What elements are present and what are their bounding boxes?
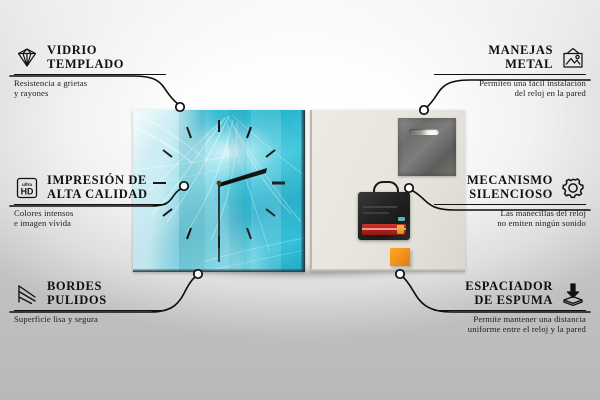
feature-rule xyxy=(434,310,586,311)
feature-rule xyxy=(14,74,166,75)
feature-rule xyxy=(14,204,166,205)
feature-header: ultra HD IMPRESIÓN DE ALTA CALIDAD xyxy=(14,174,166,201)
feature-description: Superficie lisa y segura xyxy=(14,314,166,324)
feature-header: ESPACIADOR DE ESPUMA xyxy=(434,280,586,307)
feature-description: Resistencia a grietas y rayones xyxy=(14,78,166,99)
feature-rule xyxy=(434,74,586,75)
feature-impresion-de-alta-calidad: ultra HD IMPRESIÓN DE ALTA CALIDAD Color… xyxy=(14,174,166,229)
feature-rule xyxy=(14,310,166,311)
feature-manejas-metal: MANEJAS METAL Permiten una fácil instala… xyxy=(434,44,586,99)
feature-title: VIDRIO TEMPLADO xyxy=(47,44,124,71)
ultra-hd-icon: ultra HD xyxy=(14,176,40,200)
dot-impresion xyxy=(180,182,188,190)
gear-icon xyxy=(560,176,586,200)
feature-vidrio-templado: VIDRIO TEMPLADO Resistencia a grietas y … xyxy=(14,44,166,99)
feature-rule xyxy=(434,204,586,205)
feature-title: MANEJAS METAL xyxy=(488,44,553,71)
connector-end-dots xyxy=(176,103,428,278)
feature-bordes-pulidos: BORDES PULIDOS Superficie lisa y segura xyxy=(14,280,166,324)
foam-spacer-arrow-icon xyxy=(560,282,586,306)
dot-bordes-pulidos xyxy=(194,270,202,278)
feature-title: ESPACIADOR DE ESPUMA xyxy=(465,280,553,307)
feature-description: Permite mantener una distancia uniforme … xyxy=(434,314,586,335)
feature-header: BORDES PULIDOS xyxy=(14,280,166,307)
dot-vidrio-templado xyxy=(176,103,184,111)
feature-description: Colores intensos e imagen vívida xyxy=(14,208,166,229)
feature-mecanismo-silencioso: MECANISMO SILENCIOSO Las manecillas del … xyxy=(434,174,586,229)
infographic-stage: VIDRIO TEMPLADO Resistencia a grietas y … xyxy=(0,0,600,400)
feature-header: VIDRIO TEMPLADO xyxy=(14,44,166,71)
feature-espaciador-de-espuma: ESPACIADOR DE ESPUMA Permite mantener un… xyxy=(434,280,586,335)
ultra-hd-icon-large-text: HD xyxy=(21,186,34,196)
feature-title: IMPRESIÓN DE ALTA CALIDAD xyxy=(47,174,148,201)
diamond-icon xyxy=(14,46,40,70)
feature-header: MANEJAS METAL xyxy=(434,44,586,71)
polished-edges-icon xyxy=(14,282,40,306)
feature-title: MECANISMO SILENCIOSO xyxy=(467,174,553,201)
feature-description: Las manecillas del reloj no emiten ningú… xyxy=(434,208,586,229)
feature-description: Permiten una fácil instalación del reloj… xyxy=(434,78,586,99)
wall-hanger-frame-icon xyxy=(560,46,586,70)
dot-manejas-metal xyxy=(420,106,428,114)
feature-title: BORDES PULIDOS xyxy=(47,280,107,307)
dot-mecanismo xyxy=(405,184,413,192)
dot-espaciador xyxy=(396,270,404,278)
feature-header: MECANISMO SILENCIOSO xyxy=(434,174,586,201)
